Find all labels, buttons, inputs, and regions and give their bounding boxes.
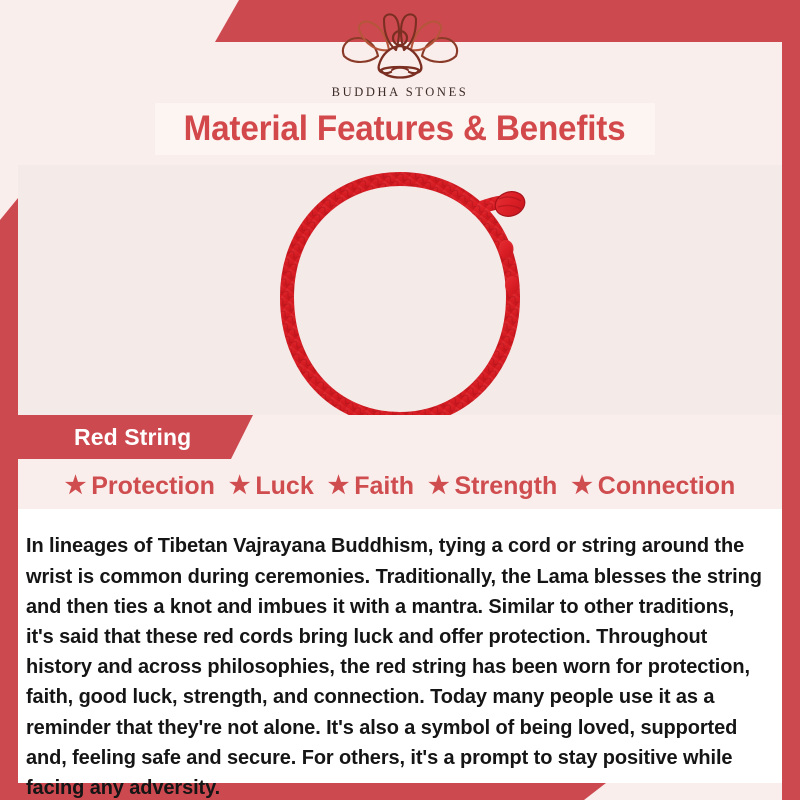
benefits-row: ★ Protection ★ Luck ★ Faith ★ Strength ★… (18, 464, 782, 508)
brand-logo: BUDDHA STONES (0, 12, 800, 100)
benefit-label: Luck (255, 472, 313, 501)
poster-canvas: BUDDHA STONES Material Features & Benefi… (0, 0, 800, 800)
star-icon: ★ (571, 474, 593, 498)
decorative-bar-left (0, 198, 18, 800)
lotus-meditation-figure-icon (334, 12, 466, 84)
benefit-label: Protection (91, 472, 215, 501)
title-band: Material Features & Benefits (155, 103, 655, 155)
star-icon: ★ (428, 474, 450, 498)
header: BUDDHA STONES Material Features & Benefi… (0, 0, 800, 165)
material-label-banner: Red String (18, 415, 253, 459)
material-label: Red String (74, 424, 191, 451)
product-image (18, 165, 782, 415)
page-title: Material Features & Benefits (184, 109, 626, 149)
benefit-item: ★ Protection (58, 472, 222, 501)
benefit-label: Strength (454, 472, 557, 501)
benefit-label: Faith (354, 472, 414, 501)
benefit-item: ★ Strength (421, 472, 564, 501)
benefit-item: ★ Connection (564, 472, 742, 501)
description-block: In lineages of Tibetan Vajrayana Buddhis… (18, 509, 782, 783)
star-icon: ★ (65, 474, 87, 498)
star-icon: ★ (328, 474, 350, 498)
star-icon: ★ (229, 474, 251, 498)
benefit-label: Connection (598, 472, 736, 501)
red-string-bracelet-illustration (225, 165, 575, 415)
benefit-item: ★ Luck (222, 472, 321, 501)
benefit-item: ★ Faith (321, 472, 421, 501)
brand-name: BUDDHA STONES (0, 85, 800, 100)
description-paragraph: In lineages of Tibetan Vajrayana Buddhis… (26, 531, 767, 800)
